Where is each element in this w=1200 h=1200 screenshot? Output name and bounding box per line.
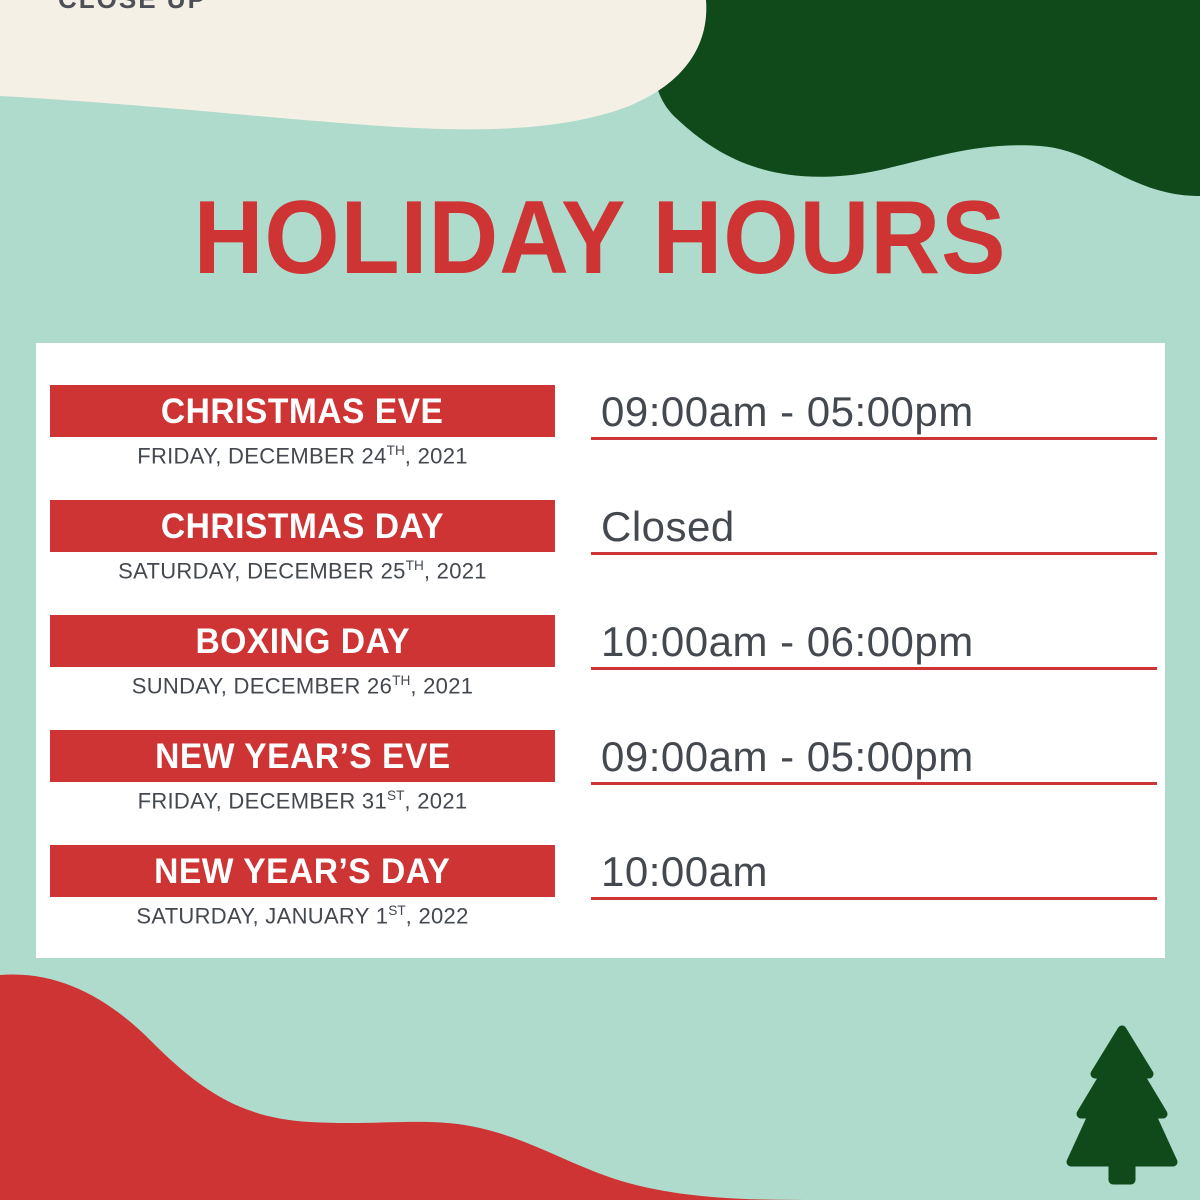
holiday-date-prefix: SUNDAY, DECEMBER 26 [132, 673, 392, 698]
holiday-hours-text: Closed [601, 506, 735, 548]
holiday-name-banner: CHRISTMAS DAY [50, 500, 555, 552]
holiday-date: SATURDAY, JANUARY 1ST, 2022 [50, 903, 555, 929]
holiday-hours-text: 10:00am - 06:00pm [601, 621, 974, 663]
holiday-hours: 09:00am - 05:00pm [601, 726, 1157, 788]
row-underline [591, 552, 1157, 555]
holiday-hours: 10:00am [601, 841, 1157, 903]
page-title: HOLIDAY HOURS [0, 186, 1200, 290]
schedule-row: NEW YEAR’S EVE FRIDAY, DECEMBER 31ST, 20… [36, 716, 1165, 831]
holiday-date-prefix: FRIDAY, DECEMBER 24 [137, 443, 386, 468]
holiday-name-label: CHRISTMAS EVE [161, 394, 444, 429]
holiday-name-banner: NEW YEAR’S DAY [50, 845, 555, 897]
holiday-hours: Closed [601, 496, 1157, 558]
holiday-hours-text: 10:00am [601, 851, 768, 893]
row-underline [591, 667, 1157, 670]
holiday-date: SATURDAY, DECEMBER 25TH, 2021 [50, 558, 555, 584]
holiday-date: FRIDAY, DECEMBER 31ST, 2021 [50, 788, 555, 814]
holiday-date-suffix: , 2021 [404, 788, 467, 813]
holiday-hours: 10:00am - 06:00pm [601, 611, 1157, 673]
holiday-date-ordinal: TH [387, 443, 405, 458]
holiday-date-suffix: , 2021 [424, 558, 487, 583]
christmas-tree-icon [1063, 1016, 1181, 1192]
schedule-row: CHRISTMAS EVE FRIDAY, DECEMBER 24TH, 202… [36, 371, 1165, 486]
holiday-date-suffix: , 2021 [410, 673, 473, 698]
holiday-hours: 09:00am - 05:00pm [601, 381, 1157, 443]
schedule-row: NEW YEAR’S DAY SATURDAY, JANUARY 1ST, 20… [36, 831, 1165, 946]
page-title-text: HOLIDAY HOURS [194, 186, 1007, 290]
row-underline [591, 437, 1157, 440]
holiday-name-label: CHRISTMAS DAY [161, 509, 444, 544]
holiday-hours-text: 09:00am - 05:00pm [601, 391, 974, 433]
schedule-card: CHRISTMAS EVE FRIDAY, DECEMBER 24TH, 202… [36, 343, 1165, 958]
holiday-date: SUNDAY, DECEMBER 26TH, 2021 [50, 673, 555, 699]
holiday-date-prefix: SATURDAY, JANUARY 1 [136, 903, 388, 928]
holiday-date-ordinal: TH [406, 558, 424, 573]
row-underline [591, 782, 1157, 785]
holiday-hours-text: 09:00am - 05:00pm [601, 736, 974, 778]
holiday-name-banner: BOXING DAY [50, 615, 555, 667]
holiday-date-suffix: , 2022 [406, 903, 469, 928]
holiday-name-banner: NEW YEAR’S EVE [50, 730, 555, 782]
holiday-date-ordinal: TH [392, 673, 410, 688]
holiday-date-ordinal: ST [388, 903, 405, 918]
holiday-date: FRIDAY, DECEMBER 24TH, 2021 [50, 443, 555, 469]
schedule-row: BOXING DAY SUNDAY, DECEMBER 26TH, 2021 1… [36, 601, 1165, 716]
holiday-date-ordinal: ST [387, 788, 404, 803]
holiday-name-banner: CHRISTMAS EVE [50, 385, 555, 437]
top-clipped-text: CLOSE UP [58, 0, 207, 15]
holiday-name-label: NEW YEAR’S DAY [154, 854, 450, 889]
holiday-date-suffix: , 2021 [405, 443, 468, 468]
holiday-name-label: BOXING DAY [195, 624, 410, 659]
holiday-date-prefix: FRIDAY, DECEMBER 31 [138, 788, 387, 813]
row-underline [591, 897, 1157, 900]
holiday-date-prefix: SATURDAY, DECEMBER 25 [118, 558, 406, 583]
schedule-row: CHRISTMAS DAY SATURDAY, DECEMBER 25TH, 2… [36, 486, 1165, 601]
holiday-name-label: NEW YEAR’S EVE [155, 739, 451, 774]
